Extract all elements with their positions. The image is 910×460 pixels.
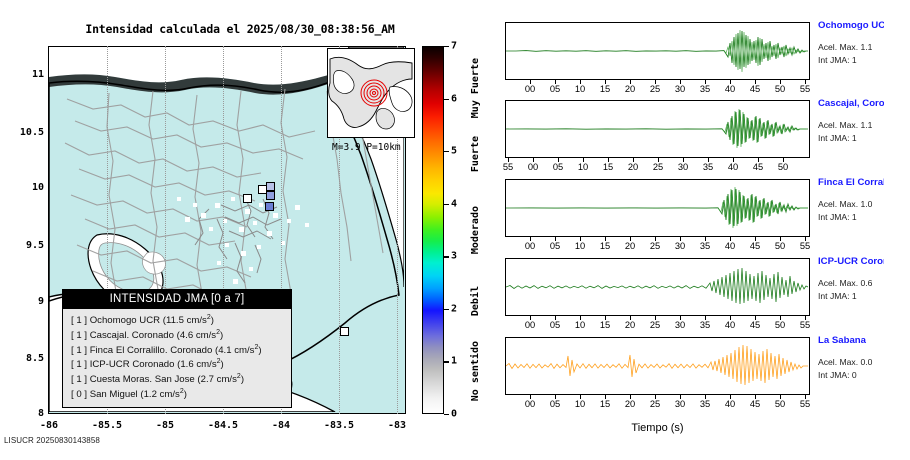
colorbar-category-debil: Debil (470, 286, 481, 316)
wave-xtick: 05 (543, 84, 567, 94)
wave-xtick: 40 (718, 241, 742, 251)
wave-xtick: 15 (593, 320, 617, 330)
wave-xtick: 00 (521, 162, 545, 172)
wave-xtick: 55 (793, 241, 817, 251)
wave-xtick: 55 (793, 320, 817, 330)
waveform-trace (506, 338, 808, 393)
accel-max-value: Acel. Max. 1.1 (818, 42, 872, 52)
wave-xtick: 25 (643, 241, 667, 251)
wave-xtick: 35 (693, 320, 717, 330)
wave-xtick: 50 (768, 320, 792, 330)
legend-rows: [ 1 ] Ochomogo UCR (11.5 cm/s2) [ 1 ] Ca… (63, 309, 291, 407)
colorbar-tick-2: 2 (451, 303, 457, 314)
wave-xtick: 50 (768, 241, 792, 251)
map-ytick-1: 10.5 (2, 127, 44, 138)
colorbar-tick-3: 3 (451, 251, 457, 262)
list-item: [ 1 ] Finca El Corralillo. Coronado (4.1… (71, 343, 285, 358)
wave-xtick: 35 (696, 162, 720, 172)
list-item: [ 1 ] Cuesta Moras. San Jose (2.7 cm/s2) (71, 372, 285, 387)
wave-xtick: 45 (743, 241, 767, 251)
colorbar-gradient (422, 46, 444, 414)
footer-watermark: LISUCR 20250830143858 (4, 436, 100, 445)
map-xtick-5: -83.5 (309, 420, 369, 431)
wave-xtick: 25 (643, 320, 667, 330)
int-jma-value: Int JMA: 1 (818, 212, 857, 222)
wave-xtick: 05 (543, 320, 567, 330)
colorbar-category-muy-fuerte: Muy Fuerte (470, 58, 481, 118)
map-xtick-6: -83 (367, 420, 427, 431)
wave-xtick: 10 (568, 399, 592, 409)
int-jma-value: Int JMA: 1 (818, 291, 857, 301)
wave-xtick: 00 (518, 241, 542, 251)
magnitude-depth-label: M=3.9 P=10km (332, 142, 401, 153)
station-name-label: La Sabana (818, 335, 866, 346)
wave-xtick: 15 (596, 162, 620, 172)
wave-xtick: 05 (546, 162, 570, 172)
wave-xtick: 40 (718, 320, 742, 330)
wave-xtick: 00 (518, 84, 542, 94)
map-xtick-3: -84.5 (193, 420, 253, 431)
intensity-legend: INTENSIDAD JMA [0 a 7] [ 1 ] Ochomogo UC… (62, 289, 292, 408)
map-ytick-2: 10 (2, 182, 44, 193)
map-ytick-0: 11 (2, 69, 44, 80)
list-item: [ 1 ] ICP-UCR Coronado (1.6 cm/s2) (71, 357, 285, 372)
map-xtick-4: -84 (251, 420, 311, 431)
station-name-label: Ochomogo UCR (818, 20, 892, 31)
intensity-colorbar: 0 1 2 3 4 5 6 7 No sentido Debil Moderad… (422, 46, 492, 414)
wave-xtick: 55 (496, 162, 520, 172)
wave-xtick: 10 (568, 241, 592, 251)
waveform-plot[interactable] (505, 100, 810, 158)
wave-xtick: 40 (721, 162, 745, 172)
colorbar-tick-0: 0 (451, 409, 457, 420)
wave-xtick: 20 (618, 84, 642, 94)
wave-xtick: 45 (743, 320, 767, 330)
list-item: [ 1 ] Cascajal. Coronado (4.6 cm/s2) (71, 328, 285, 343)
wave-xtick: 45 (743, 399, 767, 409)
wave-xtick: 05 (543, 241, 567, 251)
map-ytick-4: 9 (2, 296, 44, 307)
page-title: Intensidad calculada el 2025/08/30_08:38… (40, 22, 440, 36)
legend-title: INTENSIDAD JMA [0 a 7] (63, 290, 291, 309)
wave-xtick: 40 (718, 84, 742, 94)
wave-xtick: 55 (793, 399, 817, 409)
wave-xtick: 15 (593, 84, 617, 94)
waveform-plot[interactable] (505, 22, 810, 80)
accel-max-value: Acel. Max. 1.1 (818, 120, 872, 130)
wave-xtick: 00 (518, 399, 542, 409)
accel-max-value: Acel. Max. 1.0 (818, 199, 872, 209)
colorbar-tick-6: 6 (451, 93, 457, 104)
map-ytick-6: 8 (2, 408, 44, 419)
wave-xtick: 25 (643, 84, 667, 94)
colorbar-tick-1: 1 (451, 356, 457, 367)
right-clip-mask (884, 18, 910, 418)
wave-xtick: 50 (768, 84, 792, 94)
int-jma-value: Int JMA: 1 (818, 55, 857, 65)
wave-xtick: 15 (593, 399, 617, 409)
wave-xtick: 35 (693, 241, 717, 251)
waveform-xaxis-label: Tiempo (s) (505, 422, 810, 434)
map-xtick-1: -85.5 (77, 420, 137, 431)
wave-xtick: 05 (543, 399, 567, 409)
colorbar-tick-4: 4 (451, 198, 457, 209)
waveform-plot[interactable] (505, 179, 810, 237)
station-marker-sanmiguel[interactable] (340, 327, 349, 336)
list-item: [ 1 ] Ochomogo UCR (11.5 cm/s2) (71, 313, 285, 328)
colorbar-tick-5: 5 (451, 146, 457, 157)
waveform-trace (506, 259, 808, 314)
station-marker-corralillo[interactable] (266, 191, 275, 200)
accel-max-value: Acel. Max. 0.6 (818, 278, 872, 288)
map-ytick-3: 9.5 (2, 240, 44, 251)
wave-xtick: 40 (718, 399, 742, 409)
station-marker-cascajal[interactable] (266, 182, 275, 191)
wave-xtick: 15 (593, 241, 617, 251)
waveform-plot[interactable] (505, 258, 810, 316)
wave-xtick: 35 (693, 84, 717, 94)
wave-xtick: 30 (668, 84, 692, 94)
map-xtick-2: -85 (135, 420, 195, 431)
wave-xtick: 10 (571, 162, 595, 172)
wave-xtick: 30 (668, 241, 692, 251)
list-item: [ 0 ] San Miguel (1.2 cm/s2) (71, 387, 285, 402)
colorbar-category-no-sentido: No sentido (470, 341, 481, 401)
waveform-plot[interactable] (505, 337, 810, 395)
wave-xtick: 20 (618, 320, 642, 330)
int-jma-value: Int JMA: 0 (818, 370, 857, 380)
int-jma-value: Int JMA: 1 (818, 133, 857, 143)
wave-xtick: 10 (568, 84, 592, 94)
wave-xtick: 30 (668, 399, 692, 409)
wave-xtick: 20 (618, 399, 642, 409)
waveform-trace (506, 180, 808, 235)
wave-xtick: 25 (643, 399, 667, 409)
wave-xtick: 35 (693, 399, 717, 409)
wave-xtick: 45 (743, 84, 767, 94)
wave-xtick: 45 (746, 162, 770, 172)
station-marker-cuestamoras[interactable] (243, 194, 252, 203)
wave-xtick: 30 (668, 320, 692, 330)
colorbar-tick-7: 7 (451, 41, 457, 52)
waveform-trace (506, 23, 808, 78)
wave-xtick: 20 (618, 241, 642, 251)
inset-locator-map[interactable] (327, 48, 415, 138)
wave-xtick: 10 (568, 320, 592, 330)
colorbar-category-moderado: Moderado (470, 206, 481, 254)
wave-xtick: 00 (518, 320, 542, 330)
accel-max-value: Acel. Max. 0.0 (818, 357, 872, 367)
wave-xtick: 50 (771, 162, 795, 172)
map-xtick-0: -86 (19, 420, 79, 431)
wave-xtick: 25 (646, 162, 670, 172)
waveform-trace (506, 101, 808, 156)
wave-xtick: 20 (621, 162, 645, 172)
map-ytick-5: 8.5 (2, 353, 44, 364)
station-marker-icp[interactable] (265, 202, 274, 211)
colorbar-category-fuerte: Fuerte (470, 136, 481, 172)
wave-xtick: 50 (768, 399, 792, 409)
wave-xtick: 55 (793, 84, 817, 94)
wave-xtick: 30 (671, 162, 695, 172)
